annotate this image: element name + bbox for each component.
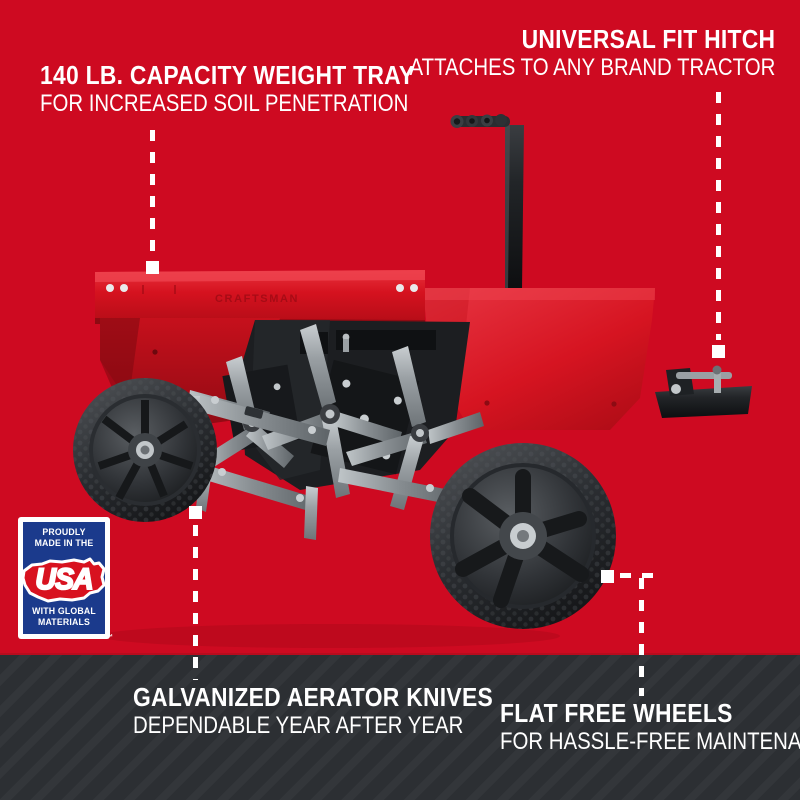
leader-line-wheels-vertical: [639, 578, 644, 696]
leader-marker-wheels: [601, 570, 614, 583]
badge-top-text: PROUDLY MADE IN THE: [22, 527, 107, 549]
badge-bottom-line-2: MATERIALS: [22, 617, 107, 628]
rear-hitch-bracket: [655, 366, 752, 419]
chassis-group: [222, 320, 470, 490]
badge-bottom-line-1: WITH GLOBAL: [22, 606, 107, 617]
callout-hitch-subline: ATTACHES TO ANY BRAND TRACTOR: [409, 55, 775, 80]
callout-wheels-headline: FLAT FREE WHEELS: [500, 700, 800, 727]
left-wheel: [73, 378, 217, 522]
leader-line-weight-tray: [150, 130, 155, 258]
leader-line-knives: [193, 525, 198, 680]
right-wheel: [430, 443, 616, 629]
badge-bottom-text: WITH GLOBAL MATERIALS: [22, 606, 107, 628]
badge-trademark-symbol: ™: [106, 634, 113, 641]
callout-wheels: FLAT FREE WHEELS FOR HASSLE-FREE MAINTEN…: [500, 700, 800, 754]
leader-marker-knives: [189, 506, 202, 519]
callout-hitch: UNIVERSAL FIT HITCH ATTACHES TO ANY BRAN…: [345, 26, 775, 80]
badge-top-line-2: MADE IN THE: [22, 538, 107, 549]
callout-knives: GALVANIZED AERATOR KNIVES DEPENDABLE YEA…: [133, 684, 542, 738]
made-in-usa-badge: PROUDLY MADE IN THE USA WITH GLOBAL MATE…: [18, 517, 110, 639]
callout-weight-tray-subline: FOR INCREASED SOIL PENETRATION: [40, 91, 408, 116]
leader-line-hitch: [716, 92, 721, 340]
brand-wordmark: CRAFTSMAN: [215, 293, 299, 305]
badge-usa-text: USA: [20, 563, 107, 597]
callout-wheels-subline: FOR HASSLE-FREE MAINTENANCE: [500, 729, 800, 754]
weight-tray-group: CRAFTSMAN: [95, 270, 425, 326]
leader-marker-hitch: [712, 345, 725, 358]
hitch-arm-group: [451, 114, 525, 290]
callout-knives-headline: GALVANIZED AERATOR KNIVES: [133, 684, 493, 711]
badge-top-line-1: PROUDLY: [22, 527, 107, 538]
infographic-canvas: CRAFTSMAN: [0, 0, 800, 800]
callout-hitch-headline: UNIVERSAL FIT HITCH: [396, 26, 775, 53]
leader-marker-weight-tray: [146, 261, 159, 274]
callout-knives-subline: DEPENDABLE YEAR AFTER YEAR: [133, 713, 481, 738]
